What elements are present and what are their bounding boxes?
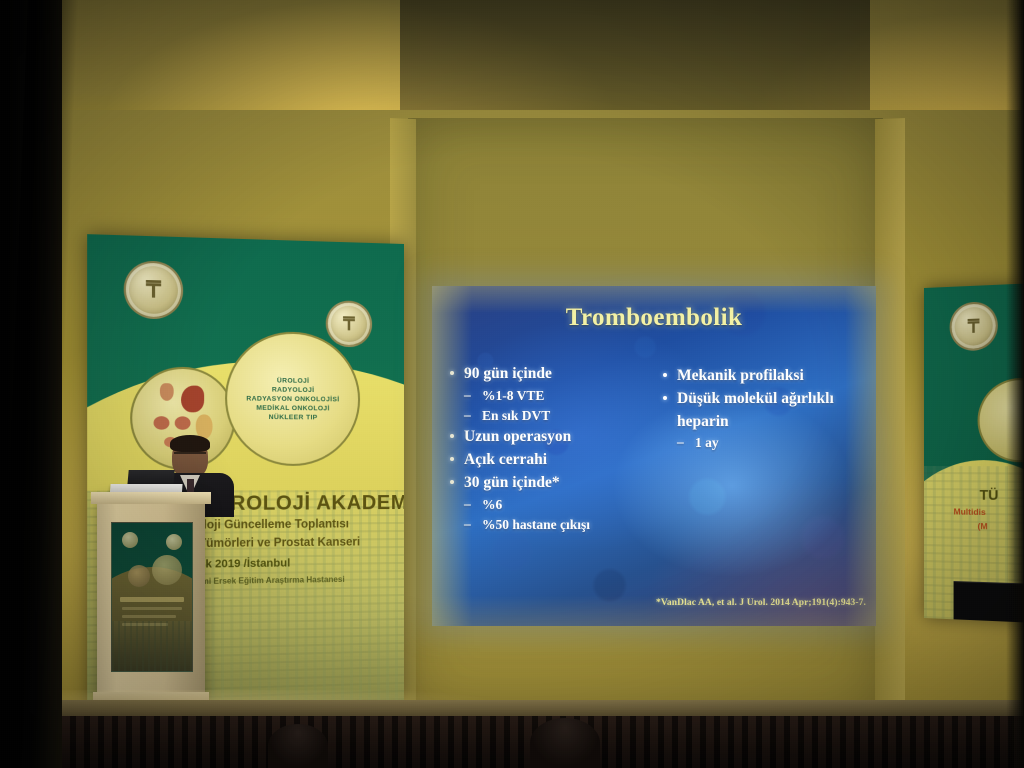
poster-cityscape-graphic <box>112 621 192 671</box>
discipline-item-3: MEDİKAL ONKOLOJİ <box>256 404 329 412</box>
banner-seal-icon-secondary: ₸ <box>326 300 372 347</box>
glasses-icon <box>174 452 206 460</box>
seal-glyph: ₸ <box>146 278 161 301</box>
poster-text-line <box>122 607 182 610</box>
organ-shape <box>160 383 174 401</box>
presentation-photo-scene: ₸ ₸ ÜROLOJİ RADYOLOJİ RADYASYON ONKOLOJİ… <box>0 0 1024 768</box>
kidney-icon <box>181 385 204 412</box>
podium <box>97 500 205 708</box>
poster-disciplines-circle <box>152 555 182 585</box>
poster-text-line <box>122 615 176 618</box>
discipline-item-0: ÜROLOJİ <box>277 377 309 385</box>
audience-silhouette <box>530 718 600 768</box>
right-banner-subtitle: Multidis <box>954 506 986 517</box>
disciplines-circle: ÜROLOJİ RADYOLOJİ RADYASYON ONKOLOJİSİ M… <box>225 331 360 466</box>
projection-edge-falloff <box>432 286 876 626</box>
right-banner-title: TÜ <box>980 486 999 502</box>
discipline-item-4: NÜKLEER TIP <box>269 413 318 420</box>
poster-seal-icon <box>166 534 182 550</box>
projection-screen: Tromboembolik 90 gün içinde %1-8 VTE En … <box>432 286 876 626</box>
slide-surface: Tromboembolik 90 gün içinde %1-8 VTE En … <box>432 286 876 626</box>
speaker-hair <box>170 435 210 452</box>
podium-poster <box>111 522 193 672</box>
stage-skirt <box>0 716 1024 768</box>
seal-glyph: ₸ <box>343 315 355 333</box>
organ-shape <box>154 416 170 430</box>
banner-seal-icon-primary: ₸ <box>124 260 183 319</box>
podium-top-surface <box>91 492 211 504</box>
right-dark-edge <box>1006 0 1024 768</box>
organ-shape <box>175 416 191 429</box>
seal-glyph: ₸ <box>968 317 979 336</box>
discipline-item-2: RADYASYON ONKOLOJİSİ <box>246 395 339 403</box>
discipline-item-1: RADYOLOJİ <box>272 386 315 394</box>
poster-organ-circle <box>128 565 150 587</box>
poster-seal-icon <box>122 532 138 548</box>
audience-silhouette <box>268 724 328 768</box>
right-banner-subtitle-2: (M <box>978 521 988 531</box>
poster-title-bar <box>120 597 184 602</box>
